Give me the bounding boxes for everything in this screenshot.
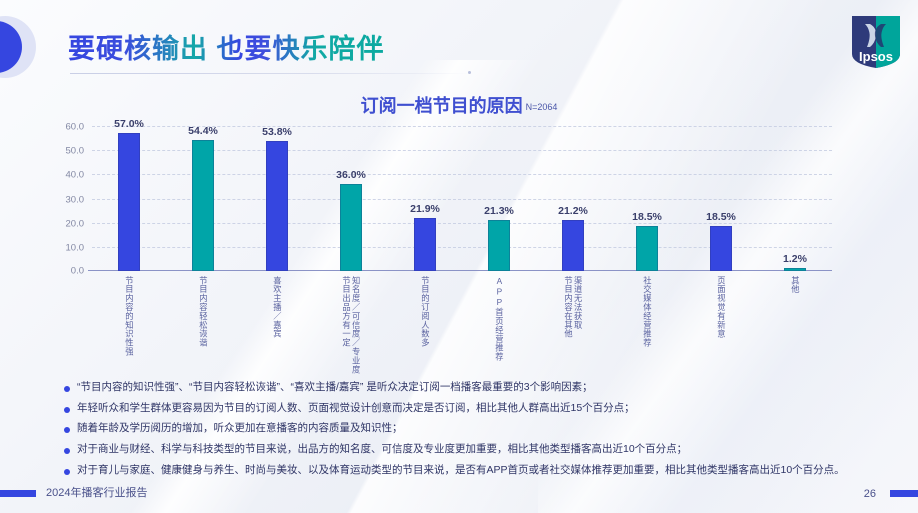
y-axis-tick-label: 40.0 — [66, 170, 85, 181]
bullet-item: 对于商业与财经、科学与科技类型的节目来说，出品方的知名度、可信度及专业度更加重要… — [64, 443, 904, 456]
chart-title: 订阅一档节目的原因N=2064 — [0, 92, 918, 118]
bar-value-label: 21.3% — [484, 205, 514, 217]
y-axis-tick-label: 10.0 — [66, 242, 85, 253]
bullet-item: 对于育儿与家庭、健康健身与养生、时尚与美妆、以及体育运动类型的节目来说，是否有A… — [64, 464, 904, 477]
bar: 57.0%节目内容的知识性强 — [118, 133, 140, 271]
bullet-text: 对于商业与财经、科学与科技类型的节目来说，出品方的知名度、可信度及专业度更加重要… — [77, 443, 687, 456]
bar: 21.2%渠道无法获取节目内容在其他 — [562, 220, 584, 271]
bar-value-label: 18.5% — [706, 211, 736, 223]
bullet-dot-icon — [64, 448, 70, 454]
bar-value-label: 54.4% — [188, 125, 218, 137]
x-axis-category-label: 其他 — [791, 276, 800, 294]
bar: 21.3%APP首页经营推荐 — [488, 220, 510, 271]
x-axis-label-line: 页面视觉有新意 — [717, 276, 726, 338]
bullet-dot-icon — [64, 427, 70, 433]
bullet-list: “节目内容的知识性强”、“节目内容轻松诙谐”、“喜欢主播/嘉宾” 是听众决定订阅… — [64, 381, 904, 484]
x-axis-label-line: 节目出品方有一定 — [342, 276, 351, 374]
x-axis-label-line: 渠道无法获取 — [574, 276, 583, 338]
bullet-text: 对于育儿与家庭、健康健身与养生、时尚与美妆、以及体育运动类型的节目来说，是否有A… — [77, 464, 845, 477]
x-axis-category-label: 节目的订阅人数多 — [421, 276, 430, 347]
x-axis-category-label: 知名度／可信度／专业度节目出品方有一定 — [342, 276, 360, 374]
title-underline-dot — [468, 71, 471, 74]
x-axis-category-label: 社交媒体经营推荐 — [643, 276, 652, 347]
svg-text:Ipsos: Ipsos — [859, 49, 893, 64]
bar: 53.8%喜欢主播／嘉宾 — [266, 141, 288, 271]
x-axis-category-label: 页面视觉有新意 — [717, 276, 726, 338]
x-axis-label-line: 节目内容轻松诙谐 — [199, 276, 208, 347]
y-axis-tick-label: 20.0 — [66, 218, 85, 229]
bar-value-label: 21.2% — [558, 205, 588, 217]
bullet-item: 年轻听众和学生群体更容易因为节目的订阅人数、页面视觉设计创意而决定是否订阅，相比… — [64, 402, 904, 415]
y-axis-tick-label: 60.0 — [66, 122, 85, 133]
bullet-text: 随着年龄及学历阅历的增加，听众更加在意播客的内容质量及知识性； — [77, 422, 403, 435]
footer-accent-bar-left — [0, 490, 36, 497]
chart-title-text: 订阅一档节目的原因 — [361, 96, 523, 116]
x-axis-category-label: APP首页经营推荐 — [495, 276, 504, 361]
x-axis-label-line: 节目内容的知识性强 — [125, 276, 134, 356]
bar: 54.4%节目内容轻松诙谐 — [192, 140, 214, 271]
chart-sample-size: N=2064 — [526, 102, 558, 112]
x-axis-label-line: 节目内容在其他 — [564, 276, 573, 338]
x-axis-category-label: 喜欢主播／嘉宾 — [273, 276, 282, 338]
x-axis-category-label: 节目内容轻松诙谐 — [199, 276, 208, 347]
bullet-item: 随着年龄及学历阅历的增加，听众更加在意播客的内容质量及知识性； — [64, 422, 904, 435]
bar-chart-plot: 0.010.020.030.040.050.060.057.0%节目内容的知识性… — [92, 126, 832, 271]
bullet-dot-icon — [64, 469, 70, 475]
bar-value-label: 18.5% — [632, 211, 662, 223]
bar: 18.5%页面视觉有新意 — [710, 226, 732, 271]
x-axis-label-line: 节目的订阅人数多 — [421, 276, 430, 347]
bar-value-label: 1.2% — [783, 253, 807, 265]
bullet-item: “节目内容的知识性强”、“节目内容轻松诙谐”、“喜欢主播/嘉宾” 是听众决定订阅… — [64, 381, 904, 394]
footer-report-name: 2024年播客行业报告 — [46, 484, 147, 500]
bullet-text: 年轻听众和学生群体更容易因为节目的订阅人数、页面视觉设计创意而决定是否订阅，相比… — [77, 402, 635, 415]
x-axis-label-line: 社交媒体经营推荐 — [643, 276, 652, 347]
x-axis-category-label: 节目内容的知识性强 — [125, 276, 134, 356]
x-axis-category-label: 渠道无法获取节目内容在其他 — [564, 276, 582, 338]
bar-value-label: 57.0% — [114, 118, 144, 130]
bar-value-label: 21.9% — [410, 203, 440, 215]
bar: 18.5%社交媒体经营推荐 — [636, 226, 658, 271]
y-axis-tick-label: 50.0 — [66, 146, 85, 157]
x-axis-label-line: 喜欢主播／嘉宾 — [273, 276, 282, 338]
y-axis-tick-label: 30.0 — [66, 194, 85, 205]
footer-accent-bar-right — [890, 490, 918, 497]
bar: 1.2%其他 — [784, 268, 806, 271]
y-axis-tick-label: 0.0 — [71, 266, 84, 277]
ipsos-logo: Ipsos — [850, 14, 902, 70]
bullet-text: “节目内容的知识性强”、“节目内容轻松诙谐”、“喜欢主播/嘉宾” 是听众决定订阅… — [77, 381, 593, 394]
bar: 36.0%知名度／可信度／专业度节目出品方有一定 — [340, 184, 362, 271]
slide: 要硬核输出 也要快乐陪伴 Ipsos 订阅一档节目的原因N=2064 0.010… — [0, 0, 918, 513]
x-axis-label-line: 其他 — [791, 276, 800, 294]
bullet-dot-icon — [64, 407, 70, 413]
bar: 21.9%节目的订阅人数多 — [414, 218, 436, 271]
x-axis-label-line: APP首页经营推荐 — [495, 276, 504, 361]
x-axis-label-line: 知名度／可信度／专业度 — [352, 276, 361, 374]
title-underline — [70, 73, 470, 74]
bar-value-label: 36.0% — [336, 169, 366, 181]
bar-value-label: 53.8% — [262, 126, 292, 138]
bullet-dot-icon — [64, 386, 70, 392]
slide-title: 要硬核输出 也要快乐陪伴 — [68, 27, 385, 66]
page-number: 26 — [864, 488, 876, 500]
